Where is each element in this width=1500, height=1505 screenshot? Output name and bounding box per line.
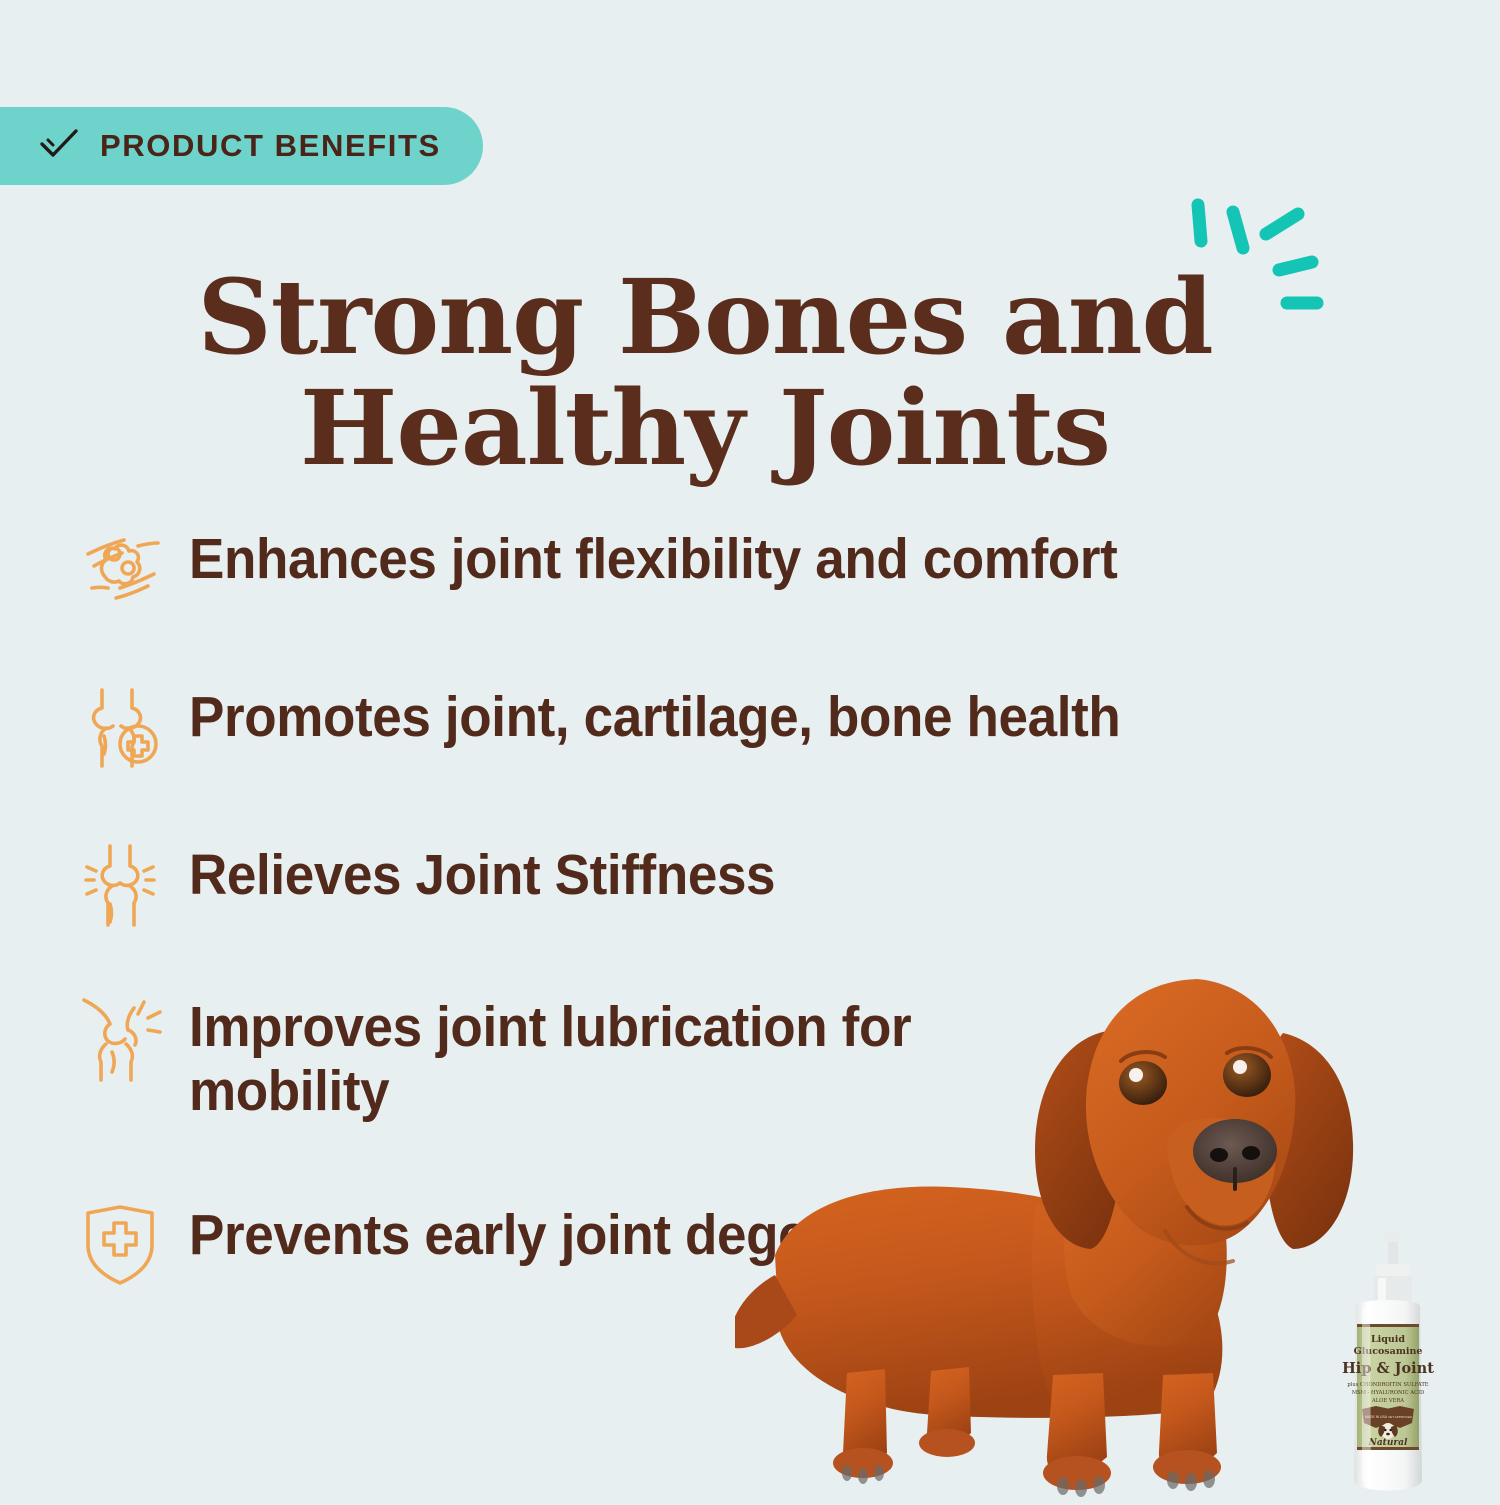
bottle-ingredient-1: plus CHONDROITIN SULFATE	[1347, 1382, 1428, 1388]
knee-joint-cross-icon	[72, 680, 167, 775]
benefit-item: Promotes joint, cartilage, bone health	[72, 678, 1322, 798]
benefit-label: Promotes joint, cartilage, bone health	[189, 678, 1120, 750]
product-bottle: Liquid Glucosamine Hip & Joint plus CHON…	[1326, 1228, 1450, 1505]
bottle-ingredient-3: ALOE VERA	[1371, 1398, 1404, 1404]
bottle-line-liquid: Liquid	[1371, 1334, 1405, 1345]
joint-spark-icon	[72, 990, 167, 1085]
benefit-label: Enhances joint flexibility and comfort	[189, 520, 1117, 592]
benefit-label: Relieves Joint Stiffness	[189, 836, 775, 908]
svg-text:VET APPROVED: VET APPROVED	[1388, 1415, 1413, 1419]
joint-relief-icon	[72, 838, 167, 933]
product-benefits-badge: PRODUCT BENEFITS	[0, 107, 483, 185]
page-title: Strong Bones and Healthy Joints	[60, 262, 1350, 484]
bottle-title: Hip & Joint	[1342, 1360, 1434, 1377]
bone-motion-icon	[72, 522, 167, 617]
badge-label: PRODUCT BENEFITS	[100, 128, 441, 164]
page-title-line-1: Strong Bones and	[60, 262, 1350, 373]
check-icon	[38, 127, 80, 166]
page-title-line-2: Healthy Joints	[60, 373, 1350, 484]
benefit-item: Relieves Joint Stiffness	[72, 836, 1322, 956]
shield-cross-icon	[72, 1198, 167, 1293]
benefit-item: Enhances joint flexibility and comfort	[72, 520, 1322, 640]
bottle-brand: Natural	[1368, 1438, 1408, 1448]
